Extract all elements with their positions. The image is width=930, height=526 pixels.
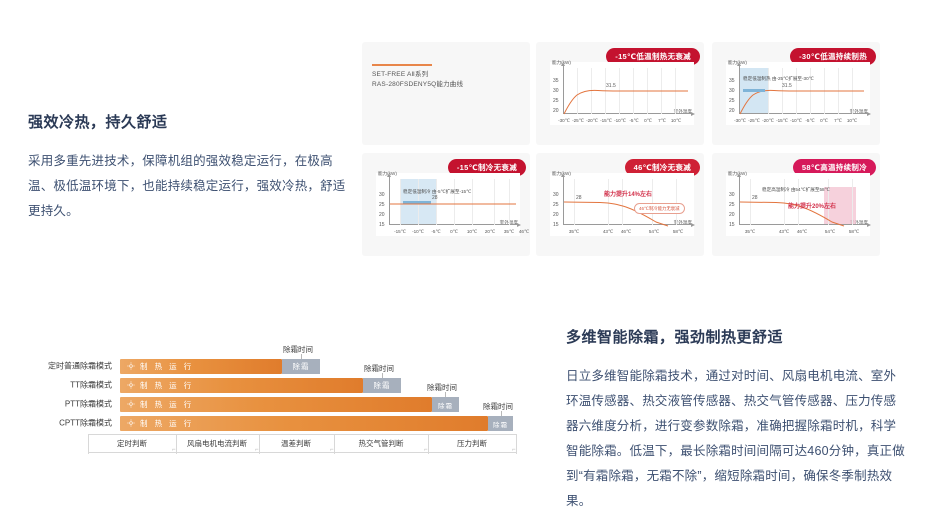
chart-card-heat-low-30: -30℃低温持续制热 能力(kW) 室外温度 35 30 25 20 -30℃ … <box>712 42 880 145</box>
defrost-row-label: 定时普通除霜模式 <box>24 361 112 372</box>
segment-label: 热交气管判断 <box>359 438 404 449</box>
plot-area: 能力(kW) 室外温度 35 30 25 20 -30℃ -25℃ -20℃ -… <box>550 62 694 125</box>
defrost-bar: 除霜 <box>488 416 513 431</box>
defrost-diagram: 定时普通除霜模式 制 热 运 行 除霜 除霜时间 TT除霜模式 制 热 运 行 … <box>24 340 534 450</box>
defrost-row-label: TT除霜模式 <box>24 380 112 391</box>
chart-card-cool-low-15: -15℃制冷无衰减 能力(kW) 室外温度 30 25 20 15 -15℃ -… <box>362 153 530 256</box>
defrost-row-label: PTT除霜模式 <box>24 399 112 410</box>
data-label: 28 <box>432 195 438 201</box>
section2-body: 日立多维智能除霜技术，通过对时间、风扇电机电流、室外环温传感器、热交液管传感器、… <box>566 364 906 514</box>
sun-icon <box>127 419 135 429</box>
header-line1: SET-FREE AⅡ系列 <box>372 70 428 80</box>
sun-icon <box>127 400 135 410</box>
segment-label: 压力判断 <box>457 438 487 449</box>
plot-area: 能力(kW) 室外温度 30 25 20 15 35℃ 43℃ 46℃ 54℃ … <box>550 173 694 236</box>
caption-tick <box>501 411 502 416</box>
defrost-bar: 除霜 <box>432 397 459 412</box>
defrost-row-label: CPTT除霜模式 <box>24 418 112 429</box>
data-label: 28 <box>752 195 758 201</box>
sun-icon <box>127 362 135 372</box>
section1-title: 强效冷热，持久舒适 <box>28 112 348 133</box>
curve-svg <box>376 173 520 236</box>
chart-card-cool-high-58: 58℃高温持续制冷 能力(kW) 室外温度 30 25 20 15 35℃ 43… <box>712 153 880 256</box>
segment-label: 定时判断 <box>117 438 147 449</box>
x-tick: 46℃ <box>519 229 529 235</box>
data-label: 31.5 <box>606 83 616 89</box>
caption-tick <box>445 392 446 397</box>
defrost-bar: 除霜 <box>282 359 320 374</box>
header-rule <box>372 64 432 66</box>
caption-tick <box>301 354 302 359</box>
section2-block: 多维智能除霜，强劲制热更舒适 日立多维智能除霜技术，通过对时间、风扇电机电流、室… <box>566 327 906 514</box>
heat-run-bar: 制 热 运 行 <box>120 378 363 393</box>
chart-card-cool-high-46: 46℃制冷无衰减 能力(kW) 室外温度 30 25 20 15 35℃ 43℃… <box>536 153 704 256</box>
section2-title: 多维智能除霜，强劲制热更舒适 <box>566 327 906 348</box>
section1-block: 强效冷热，持久舒适 采用多重先进技术，保障机组的强效稳定运行，在极高温、极低温环… <box>28 112 348 224</box>
heat-run-bar: 制 热 运 行 <box>120 416 488 431</box>
chart-annotation: 能力提升14%左右 <box>604 189 652 198</box>
curve-svg <box>550 62 694 125</box>
heat-run-label: 制 热 运 行 <box>140 361 194 372</box>
defrost-bar: 除霜 <box>363 378 401 393</box>
plot-area: 能力(kW) 室外温度 30 25 20 15 -15℃ -10℃ -5℃ 0℃… <box>376 173 520 236</box>
heat-run-label: 制 热 运 行 <box>140 418 194 429</box>
chart-card-heat-low-15: -15℃低温制热无衰减 能力(kW) 室外温度 35 30 25 20 -30℃… <box>536 42 704 145</box>
section1-body: 采用多重先进技术，保障机组的强效稳定运行，在极高温、极低温环境下，也能持续稳定运… <box>28 149 348 224</box>
chart-annotation-2: 能力提升20%左右 <box>788 201 836 210</box>
heat-run-bar: 制 热 运 行 <box>120 359 282 374</box>
plot-area: 能力(kW) 室外温度 35 30 25 20 -30℃ -25℃ -20℃ -… <box>726 62 870 125</box>
segment-label: 温差判断 <box>281 438 311 449</box>
caption-tick <box>382 373 383 378</box>
data-label: 28 <box>576 195 582 201</box>
segment-label: 风扇电机电流判断 <box>187 438 247 449</box>
segment-top-rule <box>88 434 516 435</box>
sun-icon <box>127 381 135 391</box>
defrost-time-caption: 除霜时间 <box>483 401 513 412</box>
header-line2: RAS-280FSDENY5Q能力曲线 <box>372 80 463 90</box>
curve-svg <box>726 62 870 125</box>
heat-run-label: 制 热 运 行 <box>140 399 194 410</box>
segment-bottom-rule <box>88 452 516 453</box>
heat-run-label: 制 热 运 行 <box>140 380 194 391</box>
heat-run-bar: 制 热 运 行 <box>120 397 432 412</box>
chart-pill-note: 46℃制冷能力无衰减 <box>634 203 685 214</box>
defrost-time-caption: 除霜时间 <box>283 344 313 355</box>
defrost-time-caption: 除霜时间 <box>427 382 457 393</box>
data-label: 31.5 <box>782 83 792 89</box>
defrost-time-caption: 除霜时间 <box>364 363 394 374</box>
plot-area: 能力(kW) 室外温度 30 25 20 15 35℃ 43℃ 46℃ 54℃ … <box>726 173 870 236</box>
chart-header-card: SET-FREE AⅡ系列 RAS-280FSDENY5Q能力曲线 <box>362 42 530 145</box>
